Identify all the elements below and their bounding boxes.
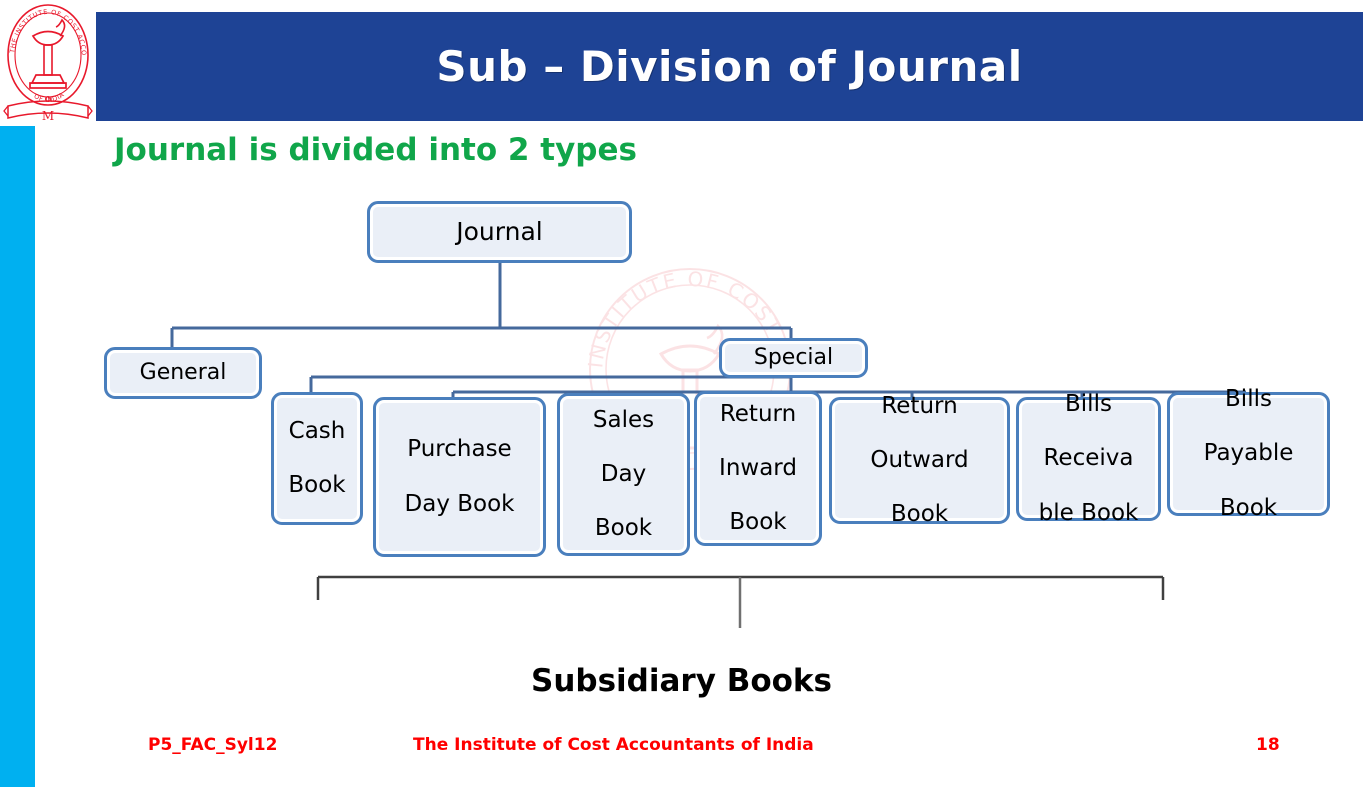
footer-institute-name: The Institute of Cost Accountants of Ind…	[413, 735, 814, 755]
node-special-label: Special	[750, 345, 837, 371]
line-1: Return	[866, 393, 972, 420]
node-bills-receivable-book[interactable]: Bills Receiva ble Book	[1016, 397, 1161, 521]
line-3: Book	[715, 509, 801, 536]
line-3: Book	[1200, 495, 1298, 522]
footer-subject-code: P5_FAC_Syl12	[148, 735, 277, 755]
institute-logo-icon: THE INSTITUTE OF COST ACCOUNTANTS OF IND…	[0, 0, 96, 125]
node-return-inward-book[interactable]: Return Inward Book	[694, 391, 822, 546]
slide-canvas: Sub – Division of Journal THE INSTITUTE …	[0, 0, 1363, 787]
subtitle-text: Journal is divided into 2 types	[114, 132, 637, 168]
node-sales-day-book[interactable]: Sales Day Book	[557, 393, 690, 556]
line-2: Payable	[1200, 440, 1298, 467]
node-general-label: General	[136, 360, 231, 386]
line-1: Cash	[284, 418, 349, 445]
slide-footer: P5_FAC_Syl12 The Institute of Cost Accou…	[0, 735, 1363, 765]
node-bills-payable-book-label: Bills Payable Book	[1196, 386, 1302, 522]
footer-page-number: 18	[1256, 735, 1280, 755]
line-2: Book	[284, 472, 349, 499]
line-1: Purchase	[401, 436, 519, 463]
node-cash-book-label: Cash Book	[280, 418, 353, 499]
line-2: Day Book	[401, 491, 519, 518]
line-1: Return	[715, 401, 801, 428]
node-general[interactable]: General	[104, 347, 262, 399]
node-return-inward-book-label: Return Inward Book	[711, 401, 805, 537]
line-1: Bills	[1200, 386, 1298, 413]
node-bills-receivable-book-label: Bills Receiva ble Book	[1031, 391, 1147, 527]
node-sales-day-book-label: Sales Day Book	[585, 407, 662, 543]
line-1: Sales	[589, 407, 658, 434]
node-return-outward-book[interactable]: Return Outward Book	[829, 397, 1010, 524]
line-2: Day	[589, 461, 658, 488]
line-1: Bills	[1035, 391, 1143, 418]
node-journal-label: Journal	[452, 217, 546, 247]
line-2: Receiva	[1035, 445, 1143, 472]
node-return-outward-book-label: Return Outward Book	[862, 393, 976, 529]
line-2: Inward	[715, 455, 801, 482]
svg-text:M: M	[42, 109, 54, 123]
node-purchase-day-book-label: Purchase Day Book	[397, 436, 523, 517]
line-2: Outward	[866, 447, 972, 474]
node-journal[interactable]: Journal	[367, 201, 632, 263]
line-3: Book	[589, 515, 658, 542]
subsidiary-books-caption: Subsidiary Books	[0, 663, 1363, 699]
node-purchase-day-book[interactable]: Purchase Day Book	[373, 397, 546, 557]
node-bills-payable-book[interactable]: Bills Payable Book	[1167, 392, 1330, 516]
line-3: Book	[866, 501, 972, 528]
institute-logo: THE INSTITUTE OF COST ACCOUNTANTS OF IND…	[0, 0, 96, 125]
node-cash-book[interactable]: Cash Book	[271, 392, 363, 525]
node-special[interactable]: Special	[719, 338, 868, 378]
line-3: ble Book	[1035, 500, 1143, 527]
page-title: Sub – Division of Journal	[96, 12, 1363, 121]
